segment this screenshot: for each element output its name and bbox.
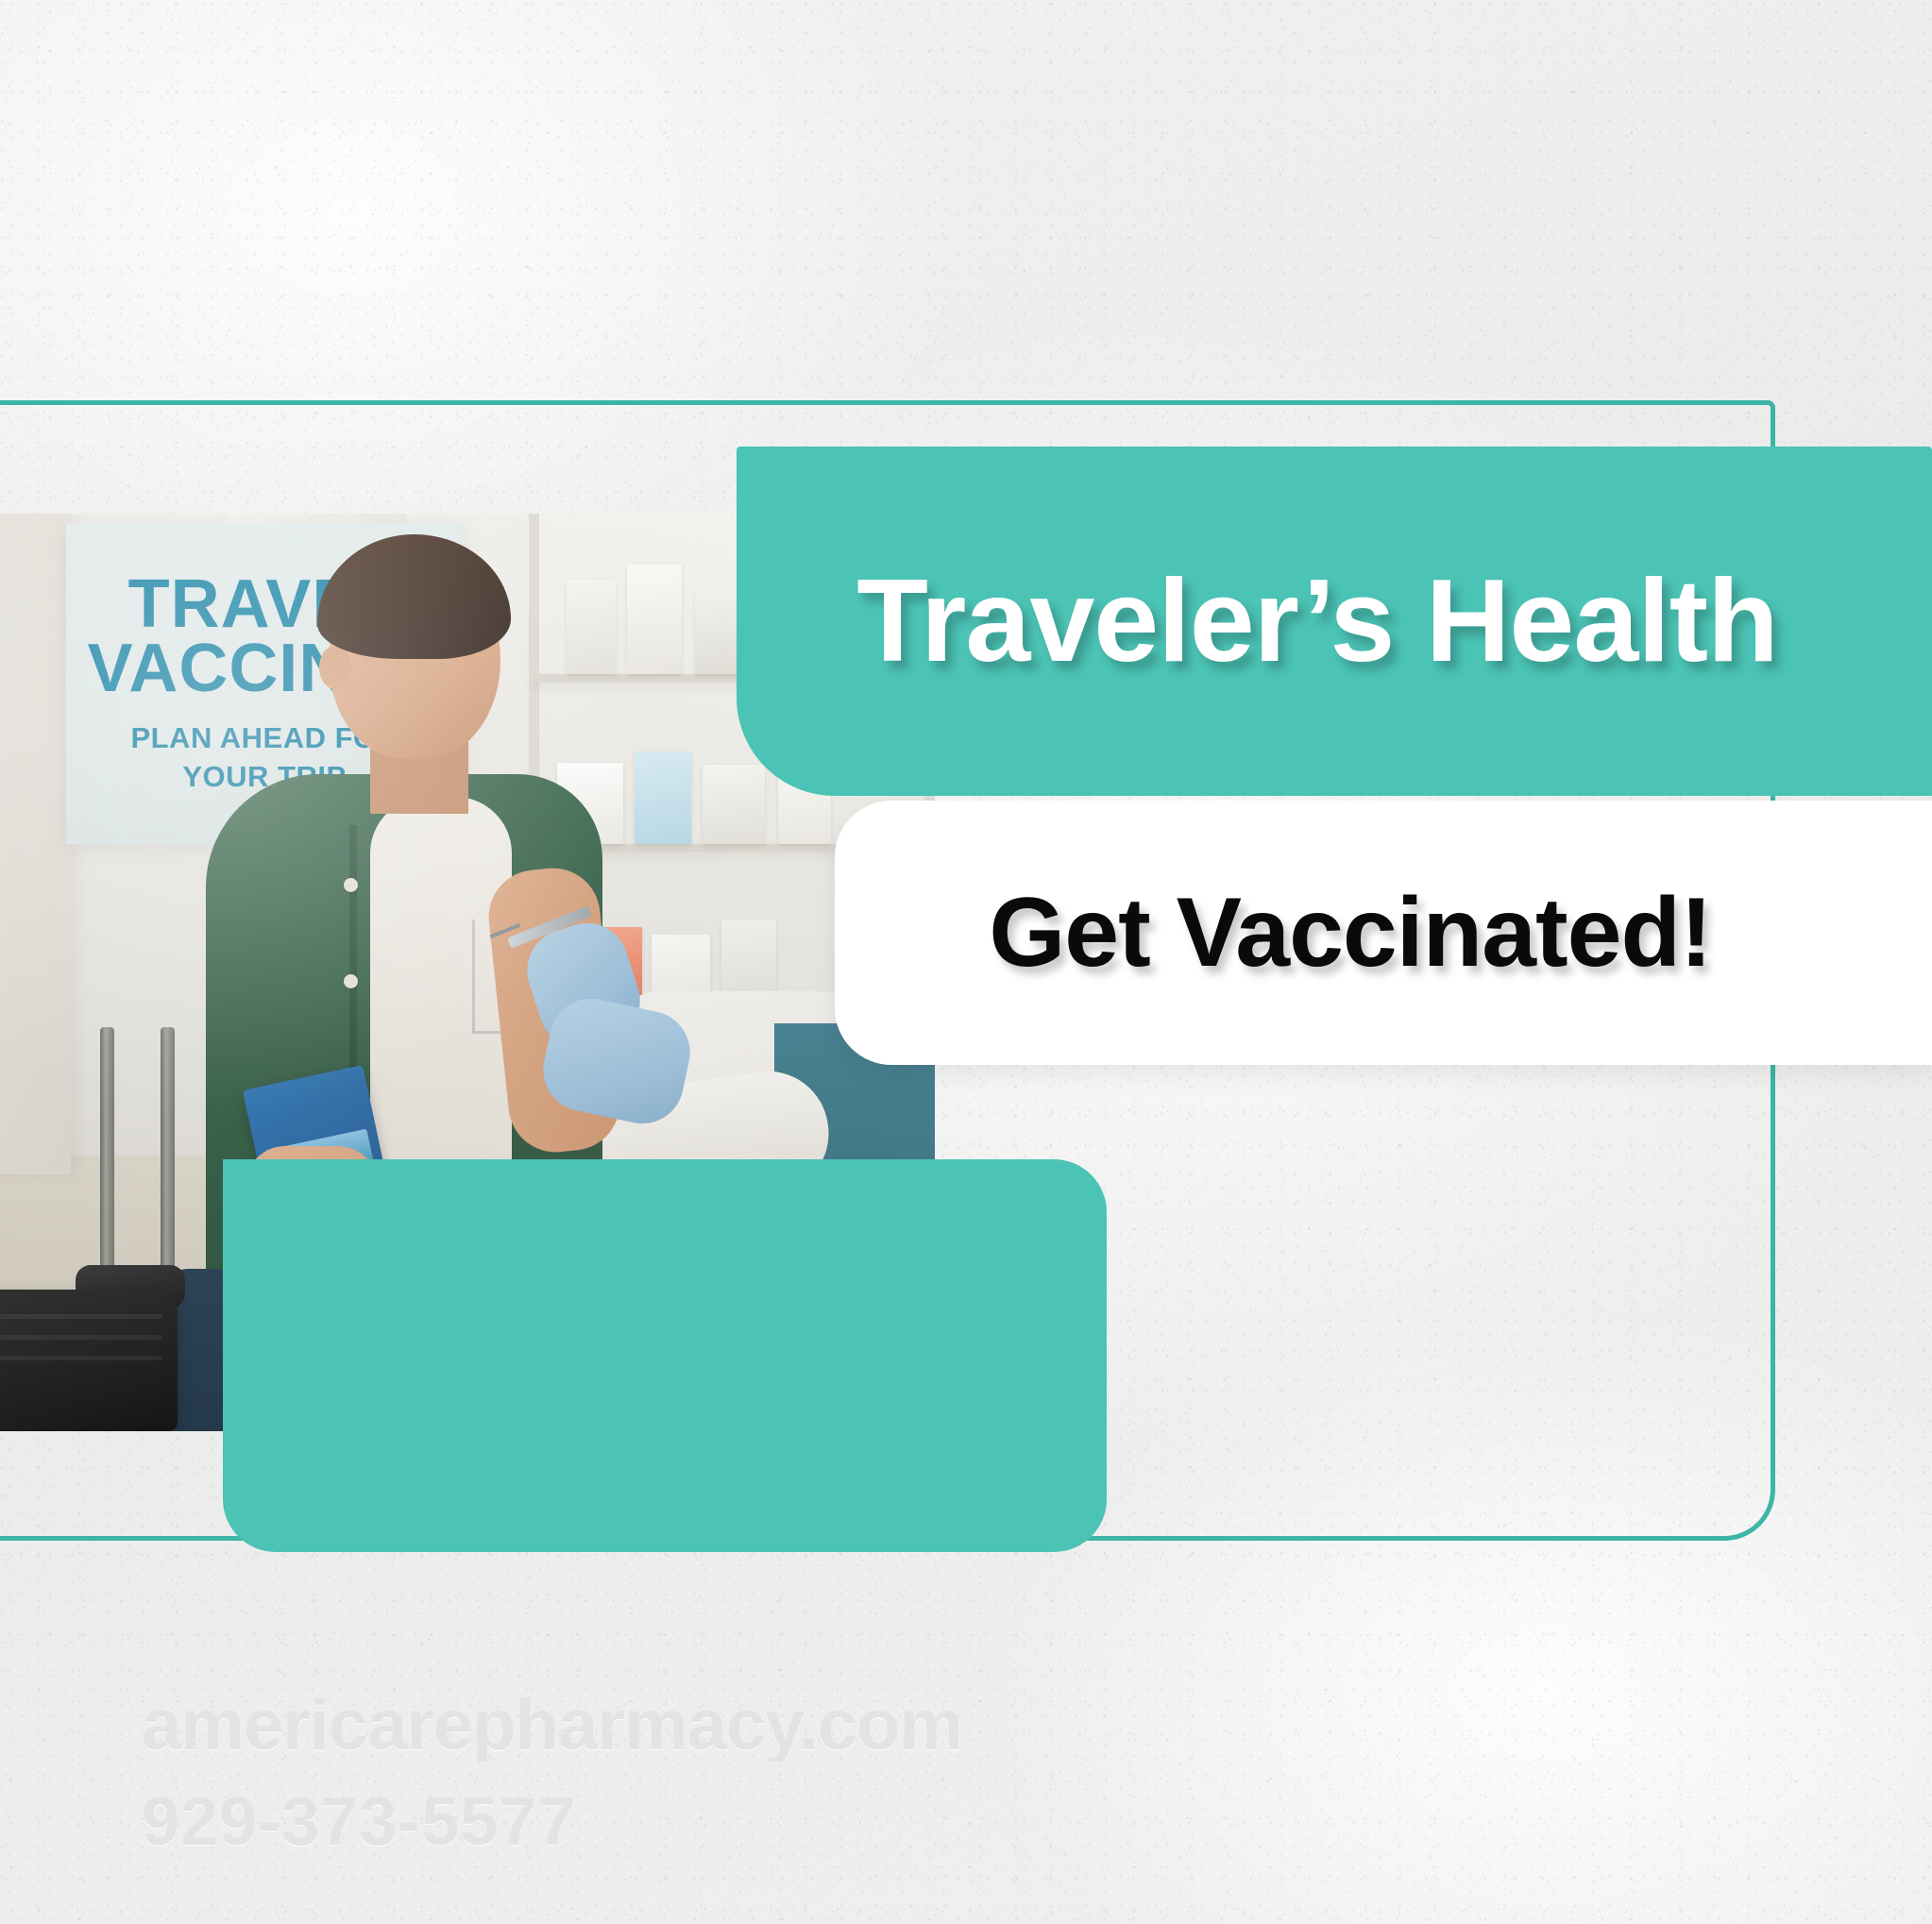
rolling-suitcase [0,1290,178,1431]
shelf-box [703,765,765,844]
shirt-button [344,974,358,988]
shelf-box [627,565,682,674]
traveler-ear [319,646,351,689]
wall-panel [0,514,71,1174]
call-to-action-text: Get Vaccinated! [989,884,1711,982]
shelf-box [635,751,691,844]
suitcase-ridge [0,1335,162,1340]
shelf-box [567,580,616,674]
headline-banner: Traveler’s Health [737,447,1932,796]
poster-canvas: americarepharmacy.com 929-373-5577 [0,0,1932,1924]
page-title: Traveler’s Health [856,563,1778,680]
shelf-box [695,593,738,674]
shirt-button [344,878,358,892]
suitcase-ridge [0,1356,162,1360]
subhead-card: Get Vaccinated! [835,801,1932,1065]
bottom-teal-accent-block [223,1159,1107,1552]
suitcase-ridge [0,1314,162,1319]
